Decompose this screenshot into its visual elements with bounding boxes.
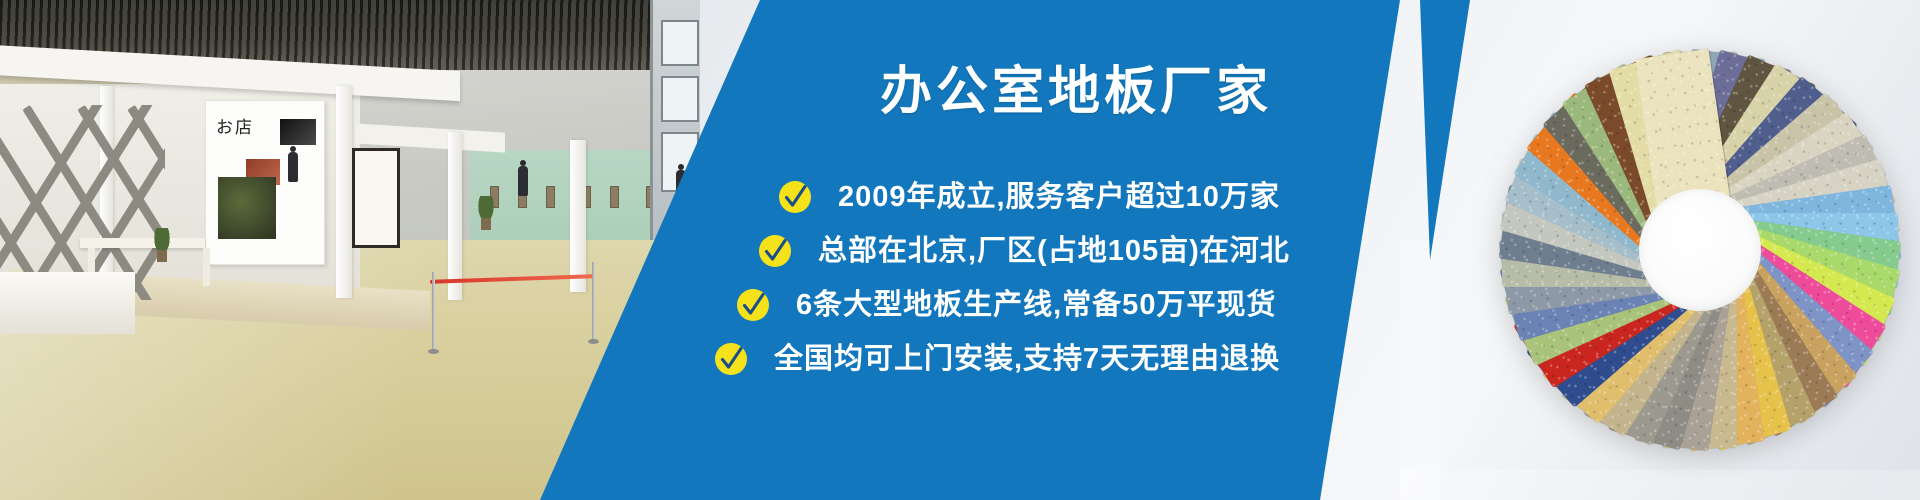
feature-text: 全国均可上门安装,支持7天无理由退换 xyxy=(774,345,1280,374)
check-circle-icon xyxy=(778,180,812,214)
check-circle-icon xyxy=(758,234,792,268)
promo-banner: お店 办公室地板厂家 2009年成立,服务客户超过10万家总部在北京,厂区(占地… xyxy=(0,0,1920,500)
feature-list: 2009年成立,服务客户超过10万家总部在北京,厂区(占地105亩)在河北6条大… xyxy=(0,170,1920,386)
feature-item: 2009年成立,服务客户超过10万家 xyxy=(0,170,1920,224)
feature-text: 6条大型地板生产线,常备50万平现货 xyxy=(796,291,1276,320)
check-circle-icon xyxy=(714,342,748,376)
banner-copy: 办公室地板厂家 2009年成立,服务客户超过10万家总部在北京,厂区(占地105… xyxy=(0,0,1920,500)
check-circle-icon xyxy=(736,288,770,322)
feature-item: 6条大型地板生产线,常备50万平现货 xyxy=(0,278,1920,332)
feature-text: 总部在北京,厂区(占地105亩)在河北 xyxy=(818,237,1290,266)
feature-item: 总部在北京,厂区(占地105亩)在河北 xyxy=(0,224,1920,278)
feature-item: 全国均可上门安装,支持7天无理由退换 xyxy=(0,332,1920,386)
page-title: 办公室地板厂家 xyxy=(880,66,1272,118)
feature-text: 2009年成立,服务客户超过10万家 xyxy=(838,183,1280,212)
